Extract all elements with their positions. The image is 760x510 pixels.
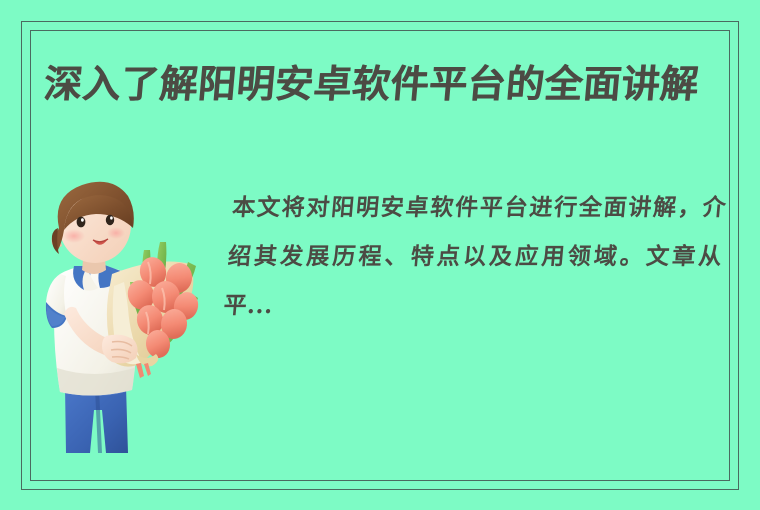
page-title: 深入了解阳明安卓软件平台的全面讲解 xyxy=(42,59,736,109)
body-paragraph: 本文将对阳明安卓软件平台进行全面讲解，介绍其发展历程、特点以及应用领域。文章从平… xyxy=(222,183,729,330)
illustration-pants xyxy=(65,386,128,453)
poster-card: 深入了解阳明安卓软件平台的全面讲解 本文将对阳明安卓软件平台进行全面讲解，介绍其… xyxy=(0,0,760,510)
boy-holding-bouquet-illustration xyxy=(40,178,220,453)
illustration-head xyxy=(52,182,134,263)
